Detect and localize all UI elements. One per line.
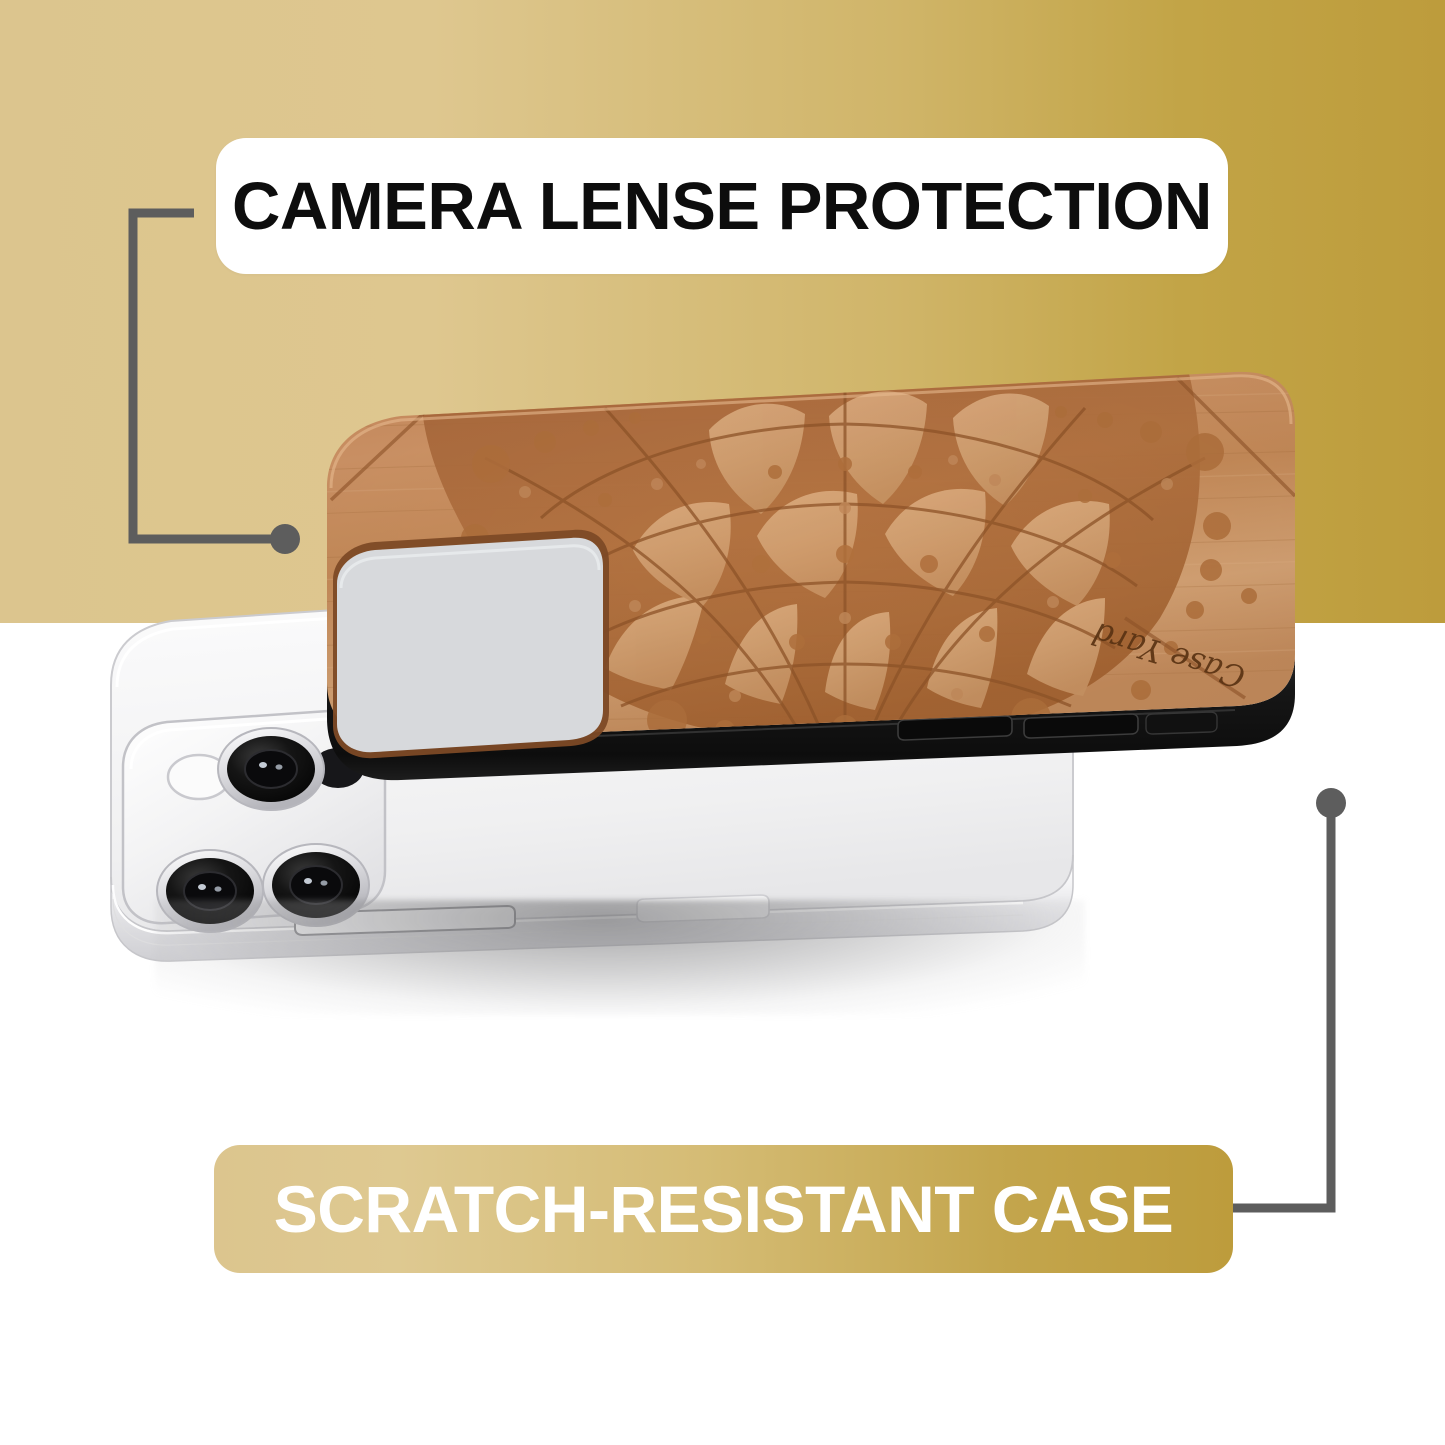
banner-camera-lense-protection: CAMERA LENSE PROTECTION xyxy=(216,138,1228,274)
case-camera-cutout xyxy=(333,530,609,758)
banner-top-label: CAMERA LENSE PROTECTION xyxy=(232,168,1212,245)
infographic-canvas: Case Yard CAMERA LENSE PROTECTION SCRATC… xyxy=(0,0,1445,1445)
banner-scratch-resistant-case: SCRATCH-RESISTANT CASE xyxy=(214,1145,1233,1273)
banner-bottom-label: SCRATCH-RESISTANT CASE xyxy=(274,1171,1174,1247)
phone-shadow xyxy=(155,900,1085,1015)
wood-case: Case Yard xyxy=(305,368,1345,778)
